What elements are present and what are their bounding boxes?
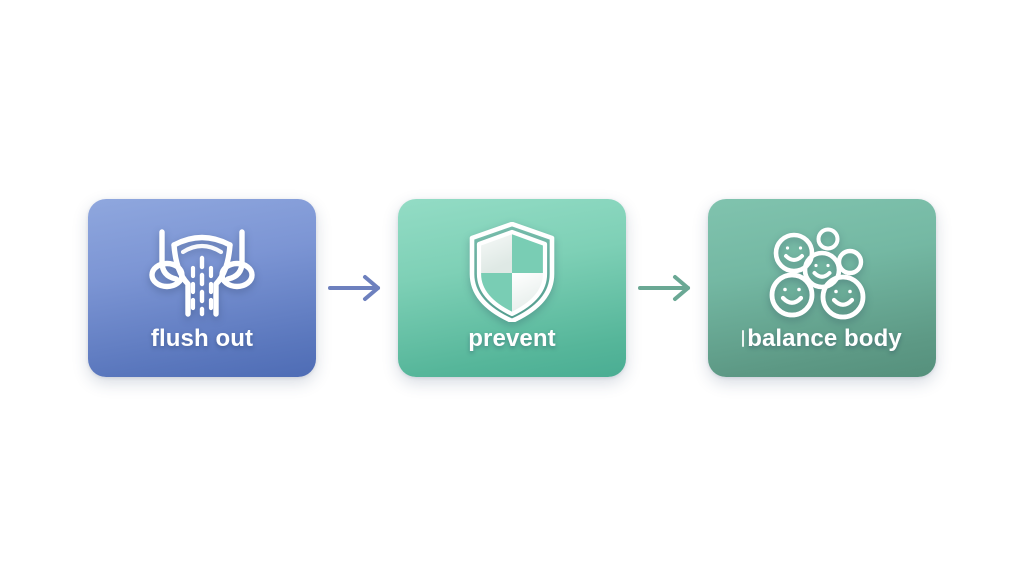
step-card-balance-body[interactable]: balance body: [708, 199, 936, 377]
step-card-prevent[interactable]: prevent: [398, 199, 626, 377]
bladder-urinary-tract-icon: [143, 221, 261, 323]
step-card-flush-out[interactable]: flush out: [88, 199, 316, 377]
arrow-right-icon: [326, 273, 388, 303]
step-label-flush-out: flush out: [151, 327, 253, 351]
connector-arrow-1: [316, 273, 398, 303]
step-label-balance-body-text: balance body: [747, 327, 902, 351]
connector-arrow-2: [626, 273, 708, 303]
process-flow-diagram: flush out: [88, 199, 936, 377]
smiley-faces-cluster-icon: [766, 221, 878, 323]
shield-icon: [469, 221, 555, 323]
arrow-right-icon: [636, 273, 698, 303]
label-tick-mark: [742, 330, 744, 347]
step-label-prevent: prevent: [468, 327, 555, 351]
step-label-balance-body: balance body: [742, 327, 902, 351]
